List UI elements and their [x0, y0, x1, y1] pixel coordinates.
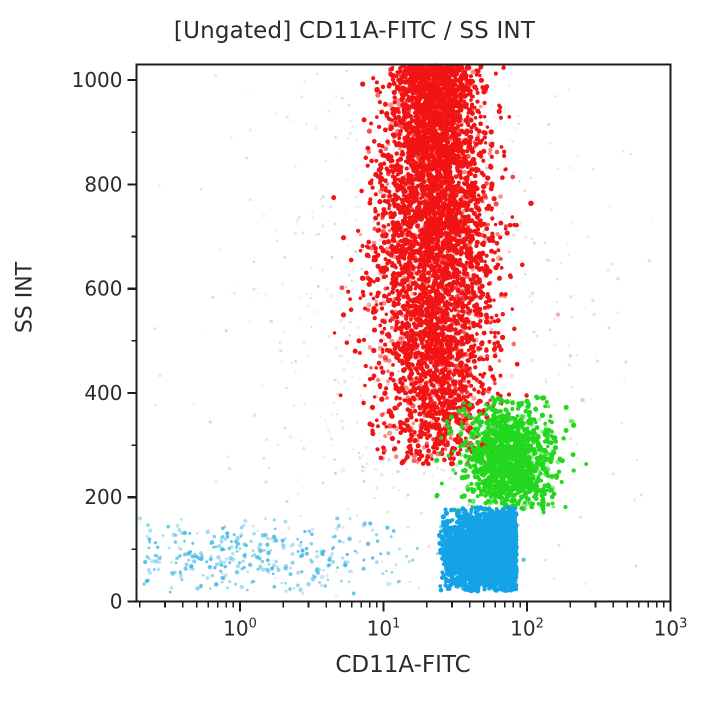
flow-cytometry-figure: [Ungated] CD11A-FITC / SS INT SS INT CD1…: [0, 0, 709, 709]
y-tick-label: 600: [84, 277, 122, 301]
y-tick-label: 1000: [72, 68, 123, 92]
y-tick-label: 0: [110, 590, 123, 614]
population-lymphocytes: [437, 505, 519, 593]
y-tick-label: 800: [84, 172, 122, 196]
y-tick-label: 200: [84, 485, 122, 509]
scatter-plot: 02004006008001000100101102103: [0, 0, 709, 709]
x-tick-label: 100: [223, 617, 257, 641]
plot-canvas-wrap: 02004006008001000100101102103: [0, 0, 709, 709]
data-points-layer: [138, 63, 654, 597]
y-tick-label: 400: [84, 381, 122, 405]
x-tick-label: 103: [654, 617, 688, 641]
x-tick-label: 101: [367, 617, 401, 641]
x-tick-label: 102: [510, 617, 544, 641]
